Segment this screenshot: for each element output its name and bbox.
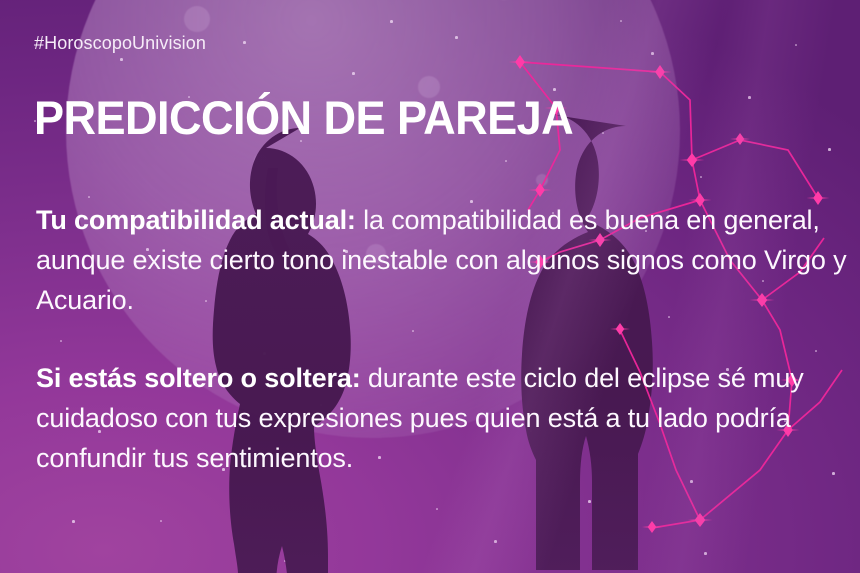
paragraph-compatibility-lead: Tu compatibilidad actual: (36, 205, 356, 235)
prediction-body: Tu compatibilidad actual: la compatibili… (36, 200, 848, 478)
horoscope-card: #HoroscopoUnivision PREDICCIÓN DE PAREJA… (0, 0, 860, 573)
page-title: PREDICCIÓN DE PAREJA (34, 92, 573, 144)
paragraph-compatibility: Tu compatibilidad actual: la compatibili… (36, 200, 848, 320)
hashtag-label: #HoroscopoUnivision (34, 33, 206, 54)
paragraph-spacer (36, 320, 848, 358)
paragraph-single-lead: Si estás soltero o soltera: (36, 363, 361, 393)
paragraph-single: Si estás soltero o soltera: durante este… (36, 358, 848, 478)
